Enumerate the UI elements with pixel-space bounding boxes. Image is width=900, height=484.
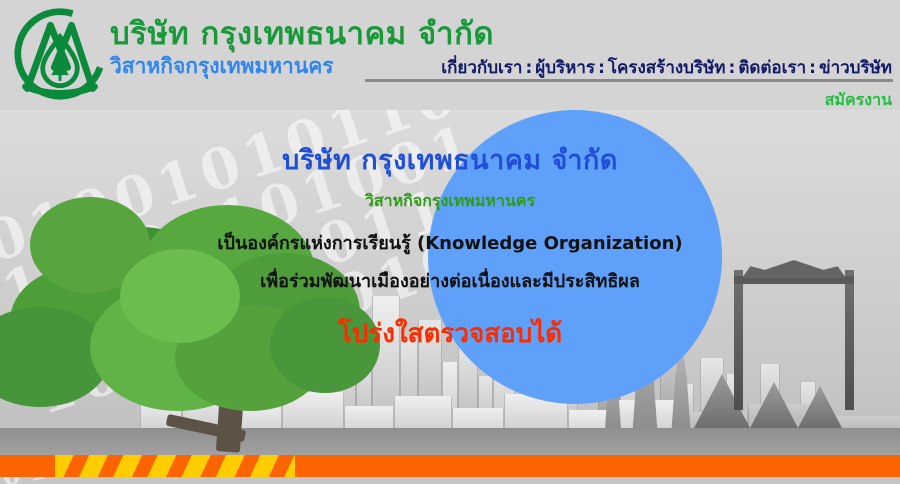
- banner-page: 01001010110 10100101001 01011010110 1001…: [0, 0, 900, 484]
- nav-divider: [365, 79, 893, 82]
- brand-title: บริษัท กรุงเทพธนาคม จำกัด: [110, 17, 494, 51]
- nav-item-structure[interactable]: โครงสร้างบริษัท: [608, 58, 726, 78]
- hazard-bar: [0, 455, 900, 477]
- site-header: บริษัท กรุงเทพธนาคม จำกัด วิสาหกิจกรุงเท…: [0, 0, 900, 110]
- nav-separator: :: [595, 58, 608, 78]
- footer-binary-watermark: 0101001011010010110100101101001011010010…: [0, 477, 900, 484]
- brand-subtitle: วิสาหกิจกรุงเทพมหานคร: [110, 55, 334, 78]
- nav-item-contact[interactable]: ติดต่อเรา: [738, 58, 806, 78]
- giant-swing-landmark: [734, 260, 854, 410]
- apply-job-link[interactable]: สมัครงาน: [825, 88, 892, 113]
- nav-item-news[interactable]: ข่าวบริษัท: [819, 58, 892, 78]
- nav-item-executives[interactable]: ผู้บริหาร: [535, 58, 595, 78]
- hero-blue-circle: [428, 110, 722, 404]
- company-logo[interactable]: [12, 6, 108, 102]
- nav-item-about[interactable]: เกี่ยวกับเรา: [441, 58, 522, 78]
- hazard-stripes: [55, 455, 295, 477]
- tree-droplet-emblem-icon: [12, 6, 108, 102]
- nav-separator: :: [522, 58, 535, 78]
- main-navigation: เกี่ยวกับเรา:ผู้บริหาร:โครงสร้างบริษัท:ต…: [441, 54, 892, 81]
- green-tree: [0, 187, 370, 452]
- footer-strip: 0101001011010010110100101101001011010010…: [0, 477, 900, 484]
- nav-separator: :: [806, 58, 819, 78]
- nav-separator: :: [726, 58, 739, 78]
